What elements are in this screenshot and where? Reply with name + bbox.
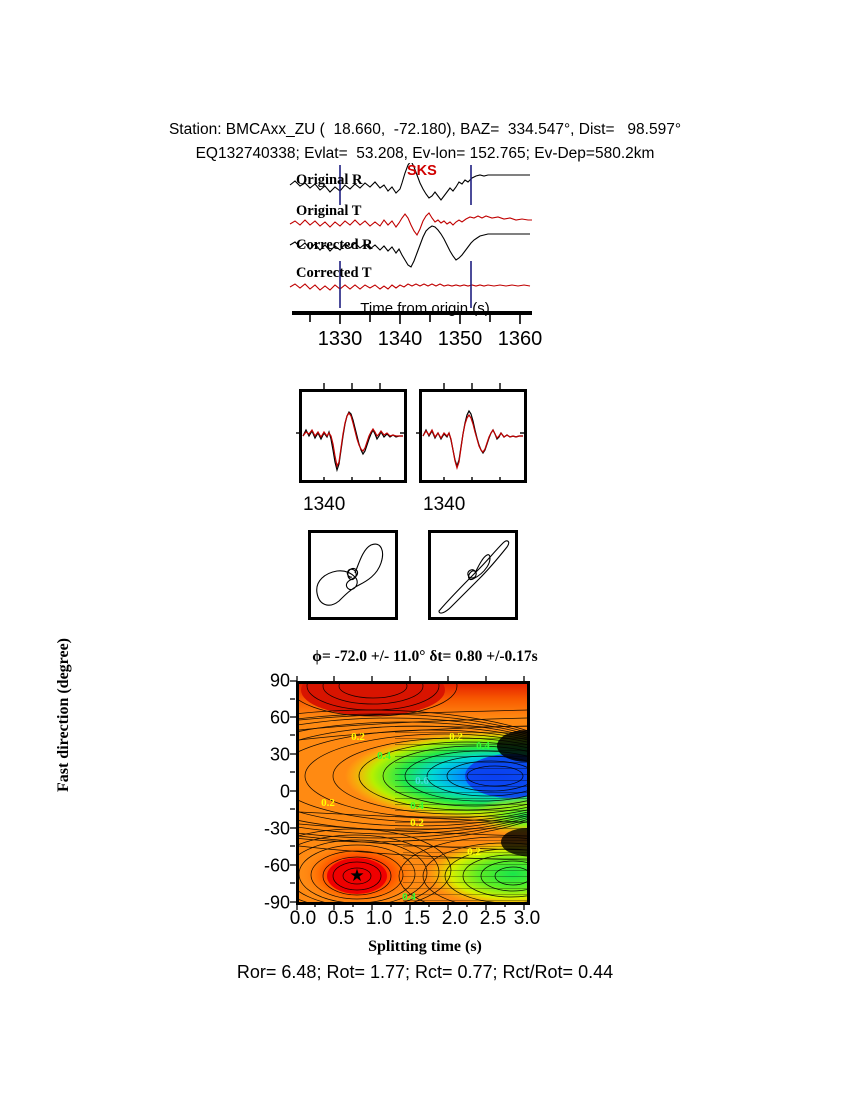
xtick-1-5: 1.5 [404,908,430,930]
time-tick-1360: 1360 [498,328,543,351]
particle-motion-original [308,530,398,620]
mini-panel-right-ticks [416,383,526,483]
contour-ylabel: Fast direction (degree) [55,605,73,825]
hodogram-path [317,544,383,605]
figure-header: Station: BMCAxx_ZU ( 18.660, -72.180), B… [0,118,850,166]
hodogram-path [439,541,509,613]
xtick-1-0: 1.0 [366,908,392,930]
ytick-m60: -60 [264,856,290,877]
ytick-m90: -90 [264,893,290,914]
particle-motion-corrected [428,530,518,620]
xtick-0-0: 0.0 [290,908,316,930]
station-info-line: Station: BMCAxx_ZU ( 18.660, -72.180), B… [0,118,850,142]
ytick-90: 90 [270,671,290,692]
xtick-0-5: 0.5 [328,908,354,930]
time-tick-labels: 1330 1340 1350 1360 [288,328,538,354]
time-tick-1340: 1340 [378,328,423,351]
contour-xlabel: Splitting time (s) [0,938,850,956]
xtick-3-0: 3.0 [514,908,540,930]
splitting-solution-title: ϕ= -72.0 +/- 11.0° δt= 0.80 +/-0.17s [0,648,850,666]
time-tick-1330: 1330 [318,328,363,351]
trace-label-corrected-t: Corrected T [296,265,372,282]
trace-label-original-t: Original T [296,203,361,220]
ytick-m30: -30 [264,819,290,840]
time-axis [288,308,538,330]
xtick-2-5: 2.5 [480,908,506,930]
time-tick-1350: 1350 [438,328,483,351]
mini-panel-right-tick-label: 1340 [423,494,465,516]
trace-label-corrected-r: Corrected R [296,237,373,254]
trace-corrected-t [290,284,530,290]
trace-label-original-r: Original R [296,172,362,189]
xtick-2-0: 2.0 [442,908,468,930]
quality-stats-line: Ror= 6.48; Rot= 1.77; Rct= 0.77; Rct/Rot… [0,962,850,983]
ytick-0: 0 [280,782,290,803]
ytick-60: 60 [270,708,290,729]
sks-phase-label: SKS [407,163,437,179]
contour-axis-ticks [289,676,537,912]
ytick-30: 30 [270,745,290,766]
mini-panel-left-ticks [296,383,406,483]
contour-y-tick-labels: 90 60 30 0 -30 -60 -90 [232,681,290,905]
contour-x-tick-labels: 0.0 0.5 1.0 1.5 2.0 2.5 3.0 [296,908,530,936]
mini-panel-left-tick-label: 1340 [303,494,345,516]
